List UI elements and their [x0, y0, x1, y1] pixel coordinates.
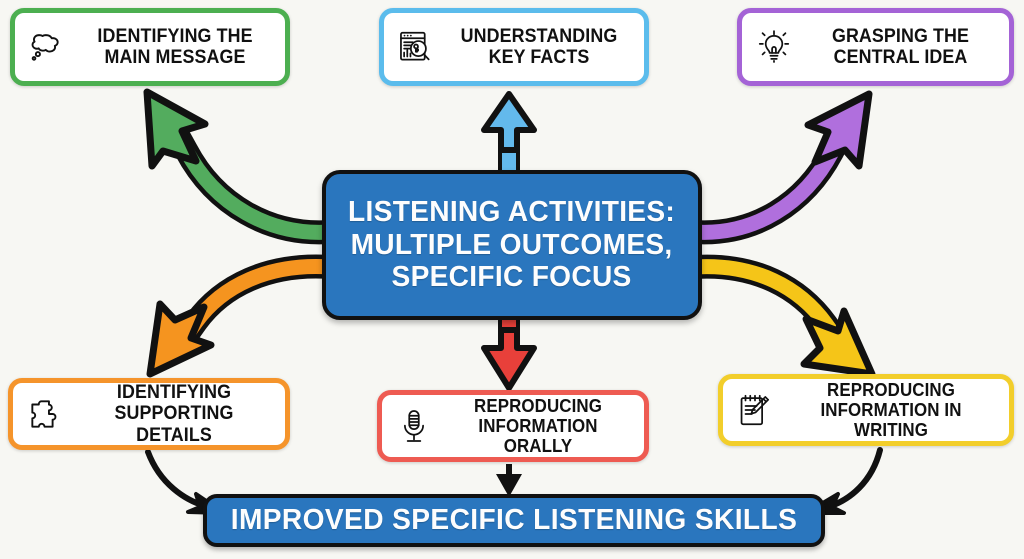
thought-bubble-icon — [27, 26, 67, 68]
card-understanding-key-facts[interactable]: UNDERSTANDING KEY FACTS — [379, 8, 649, 86]
card-identifying-supporting-details[interactable]: IDENTIFYING SUPPORTING DETAILS — [8, 378, 290, 450]
arrow-hub-to-central-idea — [694, 94, 869, 232]
banner-label: IMPROVED SPECIFIC LISTENING SKILLS — [231, 504, 797, 537]
puzzle-piece-icon — [25, 393, 65, 435]
central-hub: LISTENING ACTIVITIES: MULTIPLE OUTCOMES,… — [322, 170, 702, 320]
notepad-pencil-icon — [735, 389, 775, 431]
diagram-canvas: IDENTIFYING THE MAIN MESSAGE UNDERSTANDI… — [0, 0, 1024, 559]
lightbulb-icon — [754, 26, 794, 68]
outcome-banner: IMPROVED SPECIFIC LISTENING SKILLS — [203, 494, 825, 547]
arrow-orally-to-banner — [496, 464, 522, 497]
document-magnifier-icon — [396, 26, 436, 68]
card-label: UNDERSTANDING KEY FACTS — [452, 26, 627, 69]
card-label: GRASPING THE CENTRAL IDEA — [810, 26, 991, 69]
card-reproducing-information-orally[interactable]: REPRODUCING INFORMATION ORALLY — [377, 390, 649, 462]
card-label: IDENTIFYING THE MAIN MESSAGE — [83, 26, 267, 69]
card-grasping-the-central-idea[interactable]: GRASPING THE CENTRAL IDEA — [737, 8, 1014, 86]
arrow-hub-to-orally — [484, 316, 534, 388]
arrow-hub-to-writing — [694, 267, 872, 374]
card-reproducing-information-in-writing[interactable]: REPRODUCING INFORMATION IN WRITING — [718, 374, 1014, 446]
arrow-hub-to-main-message — [147, 92, 330, 232]
hub-title: LISTENING ACTIVITIES: MULTIPLE OUTCOMES,… — [348, 196, 675, 294]
card-label: REPRODUCING INFORMATION IN WRITING — [791, 380, 990, 440]
card-identifying-the-main-message[interactable]: IDENTIFYING THE MAIN MESSAGE — [10, 8, 290, 86]
arrow-hub-to-supporting-details — [150, 267, 330, 374]
card-label: REPRODUCING INFORMATION ORALLY — [450, 396, 627, 456]
card-label: IDENTIFYING SUPPORTING DETAILS — [81, 382, 267, 446]
arrow-hub-to-key-facts — [484, 94, 534, 182]
microphone-icon — [394, 405, 434, 447]
